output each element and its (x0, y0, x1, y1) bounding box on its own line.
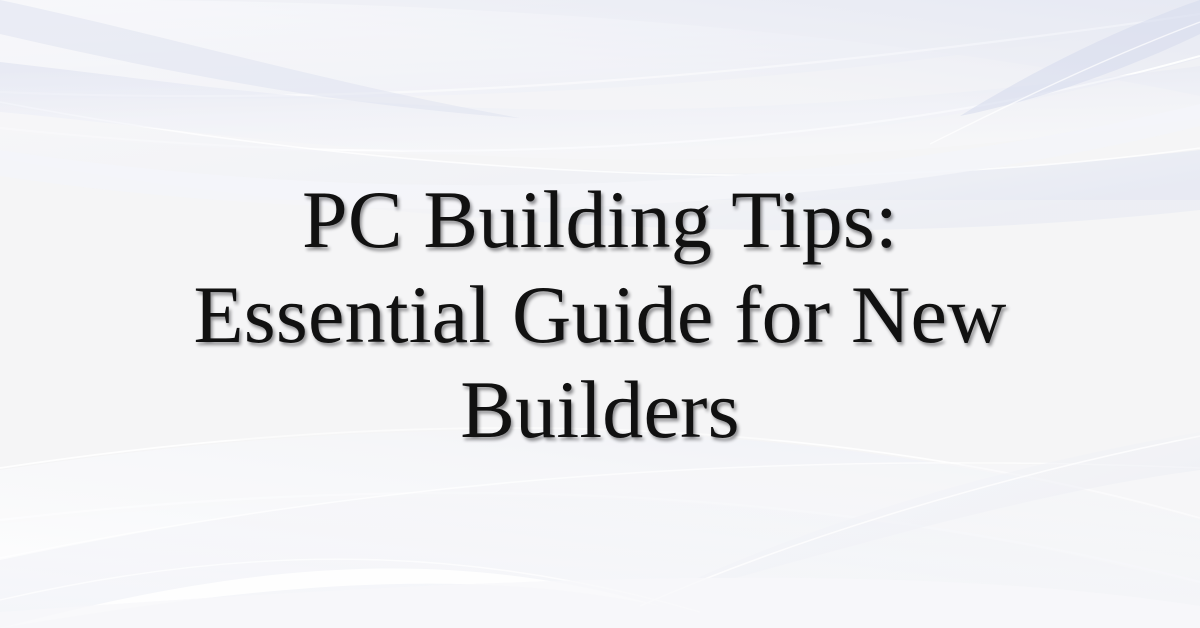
page-title: PC Building Tips: Essential Guide for Ne… (160, 172, 1040, 457)
hero-banner: PC Building Tips: Essential Guide for Ne… (0, 0, 1200, 628)
banner-content: PC Building Tips: Essential Guide for Ne… (0, 0, 1200, 628)
title-block: PC Building Tips: Essential Guide for Ne… (100, 172, 1100, 457)
